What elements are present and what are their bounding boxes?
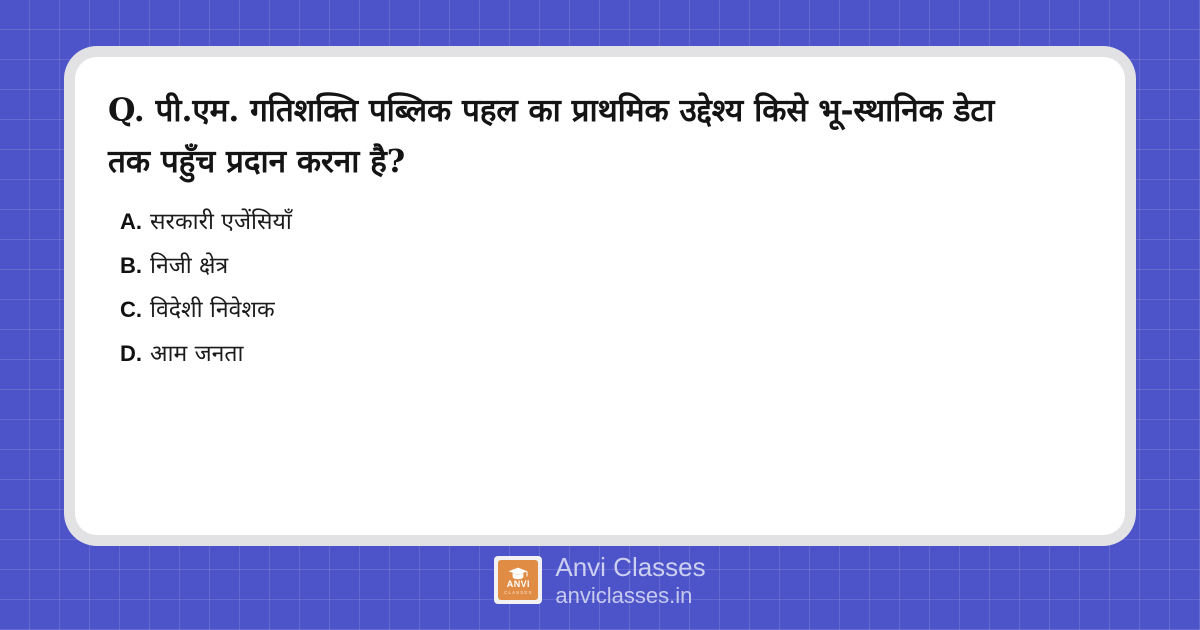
question-card-content: Q. पी.एम. गतिशक्ति पब्लिक पहल का प्राथमि…	[108, 85, 1095, 515]
logo-word-anvi: ANVI	[507, 580, 530, 589]
option-b-letter: B.	[120, 244, 150, 288]
option-c[interactable]: C. विदेशी निवेशक	[108, 288, 1095, 332]
option-c-letter: C.	[120, 288, 150, 332]
option-a-text: सरकारी एजेंसियाँ	[150, 200, 292, 244]
option-b-text: निजी क्षेत्र	[150, 244, 228, 288]
question-card: Q. पी.एम. गतिशक्ति पब्लिक पहल का प्राथमि…	[75, 57, 1125, 535]
option-d[interactable]: D. आम जनता	[108, 332, 1095, 376]
options-list: A. सरकारी एजेंसियाँ B. निजी क्षेत्र C. व…	[108, 200, 1095, 376]
option-a-letter: A.	[120, 200, 150, 244]
option-a[interactable]: A. सरकारी एजेंसियाँ	[108, 200, 1095, 244]
option-c-text: विदेशी निवेशक	[150, 288, 275, 332]
brand-footer: ANVI CLASSES Anvi Classes anviclasses.in	[0, 547, 1200, 613]
graduation-cap-icon	[508, 567, 528, 580]
logo-word-classes: CLASSES	[504, 589, 532, 596]
option-b[interactable]: B. निजी क्षेत्र	[108, 244, 1095, 288]
brand-url[interactable]: anviclasses.in	[555, 582, 705, 609]
anvi-classes-logo: ANVI CLASSES	[498, 560, 538, 600]
brand-text-block: Anvi Classes anviclasses.in	[555, 552, 705, 609]
option-d-letter: D.	[120, 332, 150, 376]
question-text: Q. पी.एम. गतिशक्ति पब्लिक पहल का प्राथमि…	[108, 85, 1038, 187]
slide-canvas: Q. पी.एम. गतिशक्ति पब्लिक पहल का प्राथमि…	[0, 0, 1200, 630]
logo-frame: ANVI CLASSES	[494, 556, 542, 604]
brand-name: Anvi Classes	[555, 552, 705, 582]
option-d-text: आम जनता	[150, 332, 243, 376]
